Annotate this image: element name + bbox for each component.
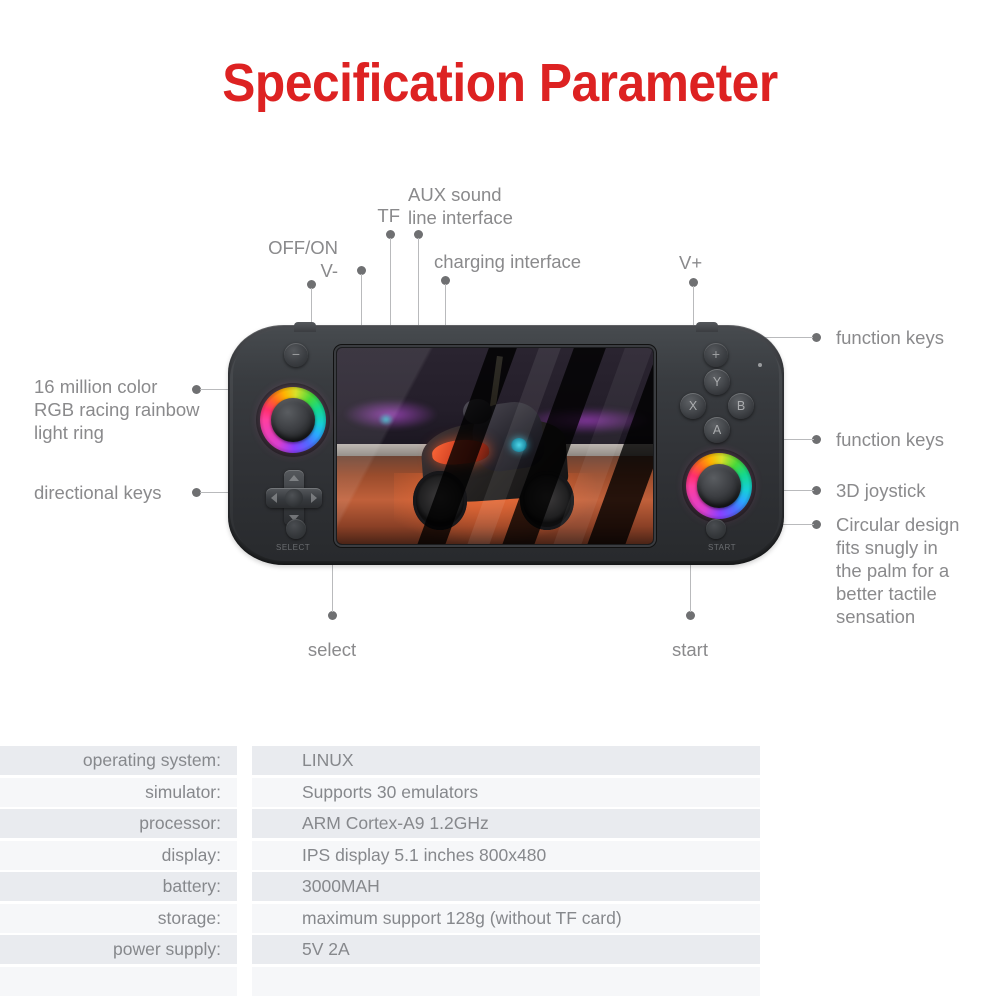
- spec-key: display:: [0, 841, 237, 870]
- button-a[interactable]: A: [704, 417, 730, 443]
- screen-sheen: [337, 348, 653, 544]
- spec-value: [252, 967, 760, 996]
- leader-line-v-plus: [693, 286, 694, 328]
- callout-label-select: select: [282, 638, 382, 661]
- table-row: simulator: Supports 30 emulators: [0, 777, 760, 809]
- column-divider: [237, 935, 252, 964]
- spec-key: power supply:: [0, 935, 237, 964]
- screen-bezel: [334, 345, 656, 547]
- start-button-silkscreen: START: [708, 543, 736, 552]
- spec-key: storage:: [0, 904, 237, 933]
- spec-key: battery:: [0, 872, 237, 901]
- table-row: display: IPS display 5.1 inches 800x480: [0, 840, 760, 872]
- callout-label-rgb-light-ring: 16 million color RGB racing rainbow ligh…: [34, 375, 204, 444]
- callout-label-tf: TF: [340, 204, 400, 227]
- column-divider: [237, 746, 252, 775]
- leader-line-v-minus: [361, 274, 362, 328]
- game-screen[interactable]: [337, 348, 653, 544]
- spec-key: operating system:: [0, 746, 237, 775]
- table-row: storage: maximum support 128g (without T…: [0, 903, 760, 935]
- dpad-right-arrow-icon: [311, 493, 317, 503]
- spec-value: 3000MAH: [252, 872, 760, 901]
- column-divider: [237, 967, 252, 996]
- spec-value: IPS display 5.1 inches 800x480: [252, 841, 760, 870]
- dpad-left-arrow-icon: [271, 493, 277, 503]
- callout-label-v-plus: V+: [679, 251, 729, 274]
- specification-table: operating system: LINUX simulator: Suppo…: [0, 745, 760, 997]
- spec-value: Supports 30 emulators: [252, 778, 760, 807]
- leader-line-aux: [418, 238, 419, 328]
- table-row: processor: ARM Cortex-A9 1.2GHz: [0, 808, 760, 840]
- spec-value: maximum support 128g (without TF card): [252, 904, 760, 933]
- table-row: operating system: LINUX: [0, 745, 760, 777]
- table-row: power supply: 5V 2A: [0, 934, 760, 966]
- button-b[interactable]: B: [728, 393, 754, 419]
- column-divider: [237, 904, 252, 933]
- table-row: battery: 3000MAH: [0, 871, 760, 903]
- spec-key: processor:: [0, 809, 237, 838]
- spec-value: LINUX: [252, 746, 760, 775]
- directional-pad[interactable]: [266, 470, 322, 526]
- dpad-up-arrow-icon: [289, 475, 299, 481]
- callout-label-function-keys-top: function keys: [836, 326, 996, 349]
- dpad-center-hub: [285, 489, 303, 507]
- leader-dot-function-keys-top: [812, 333, 821, 342]
- column-divider: [237, 778, 252, 807]
- right-rgb-joystick[interactable]: [686, 453, 752, 519]
- leader-line-charging: [445, 284, 446, 328]
- callout-label-v-minus: V-: [258, 259, 338, 282]
- specification-page: Specification Parameter OFF/ON V- TF AUX…: [0, 0, 1000, 1000]
- start-button[interactable]: [706, 519, 726, 539]
- volume-down-key[interactable]: −: [284, 343, 308, 367]
- spec-value: 5V 2A: [252, 935, 760, 964]
- handheld-console-device: − + Y X B A SELECT START: [228, 325, 784, 565]
- button-y[interactable]: Y: [704, 369, 730, 395]
- left-rgb-joystick[interactable]: [260, 387, 326, 453]
- select-button[interactable]: [286, 519, 306, 539]
- right-shoulder-bumper[interactable]: [696, 322, 718, 332]
- spec-key: simulator:: [0, 778, 237, 807]
- table-row: [0, 966, 760, 998]
- callout-label-charging-interface: charging interface: [434, 250, 634, 273]
- column-divider: [237, 872, 252, 901]
- volume-up-key[interactable]: +: [704, 343, 728, 367]
- left-shoulder-bumper[interactable]: [294, 322, 316, 332]
- callout-label-circular-design: Circular design fits snugly in the palm …: [836, 513, 986, 628]
- leader-dot-start: [686, 611, 695, 620]
- column-divider: [237, 841, 252, 870]
- leader-dot-select: [328, 611, 337, 620]
- callout-label-3d-joystick: 3D joystick: [836, 479, 996, 502]
- page-title: Specification Parameter: [40, 52, 960, 114]
- leader-line-tf: [390, 238, 391, 328]
- callout-label-function-keys-bottom: function keys: [836, 428, 996, 451]
- callout-label-offon: OFF/ON: [248, 236, 338, 259]
- spec-value: ARM Cortex-A9 1.2GHz: [252, 809, 760, 838]
- callout-label-start: start: [640, 638, 740, 661]
- status-led-icon: [758, 363, 762, 367]
- column-divider: [237, 809, 252, 838]
- button-x[interactable]: X: [680, 393, 706, 419]
- callout-label-aux-sound-line-interface: AUX sound line interface: [408, 183, 588, 229]
- spec-key: [0, 967, 237, 996]
- callout-label-directional-keys: directional keys: [34, 481, 194, 504]
- select-button-silkscreen: SELECT: [276, 543, 310, 552]
- face-button-cluster: Y X B A: [680, 369, 754, 443]
